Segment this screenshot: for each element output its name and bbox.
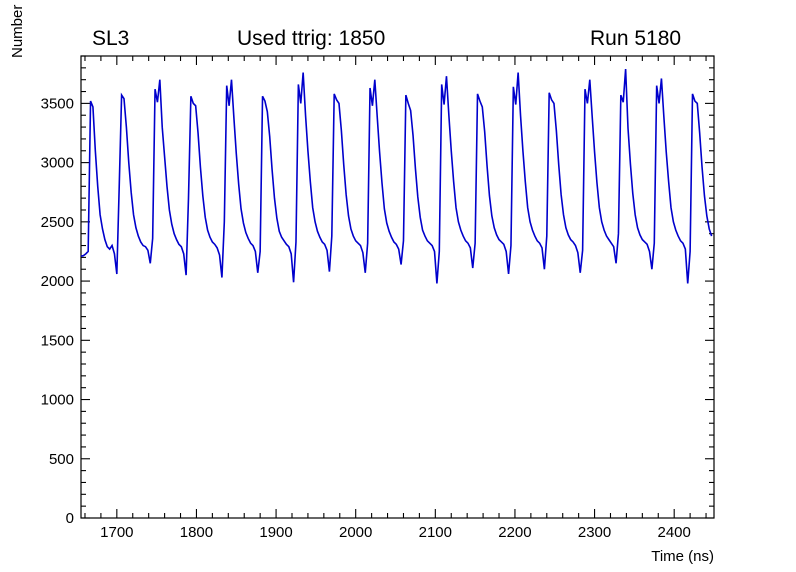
y-tick-label: 3000 xyxy=(41,155,74,172)
chart-canvas: SL3 Used ttrig: 1850 Run 5180 1700180019… xyxy=(0,0,796,572)
x-tick-label: 1900 xyxy=(259,524,292,541)
y-tick-label: 1500 xyxy=(41,332,74,349)
x-tick-label: 2400 xyxy=(658,524,691,541)
y-tick-label: 1000 xyxy=(41,392,74,409)
y-tick-label: 0 xyxy=(66,510,74,527)
x-tick-label: 2300 xyxy=(578,524,611,541)
y-tick-label: 500 xyxy=(49,451,74,468)
y-tick-label: 2000 xyxy=(41,273,74,290)
y-tick-label: 2500 xyxy=(41,214,74,231)
x-tick-label: 2200 xyxy=(498,524,531,541)
y-tick-label: 3500 xyxy=(41,95,74,112)
axis-frame xyxy=(81,56,714,518)
x-tick-label: 2100 xyxy=(419,524,452,541)
x-tick-label: 1800 xyxy=(180,524,213,541)
plot-area: 1700180019002000210022002300240005001000… xyxy=(0,0,796,572)
x-axis-title: Time (ns) xyxy=(651,548,714,565)
data-series-line xyxy=(81,69,712,283)
x-tick-label: 1700 xyxy=(100,524,133,541)
y-axis-title: Number of digis xyxy=(9,0,26,58)
x-tick-label: 2000 xyxy=(339,524,372,541)
